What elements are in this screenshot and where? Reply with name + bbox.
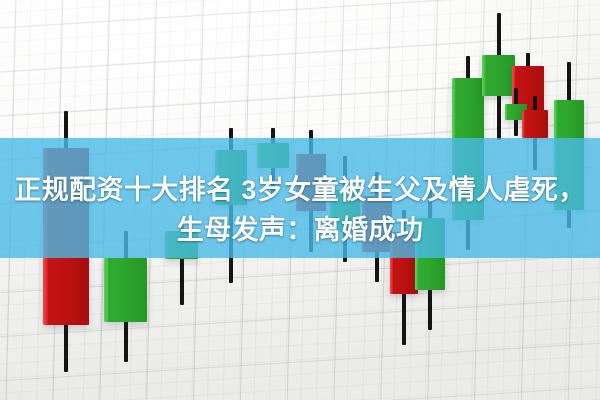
- headline-text: 正规配资十大排名 3岁女童被生父及情人虐死， 生母发声：离婚成功: [0, 170, 600, 250]
- headline-line-2: 生母发声：离婚成功: [0, 210, 600, 250]
- candlestick-body-up: [482, 55, 515, 96]
- screenshot-canvas: 正规配资十大排名 3岁女童被生父及情人虐死， 生母发声：离婚成功: [0, 0, 600, 400]
- headline-line-1: 正规配资十大排名 3岁女童被生父及情人虐死，: [0, 170, 600, 210]
- candlestick-body-down: [522, 110, 548, 138]
- candlestick-body-up: [104, 258, 147, 322]
